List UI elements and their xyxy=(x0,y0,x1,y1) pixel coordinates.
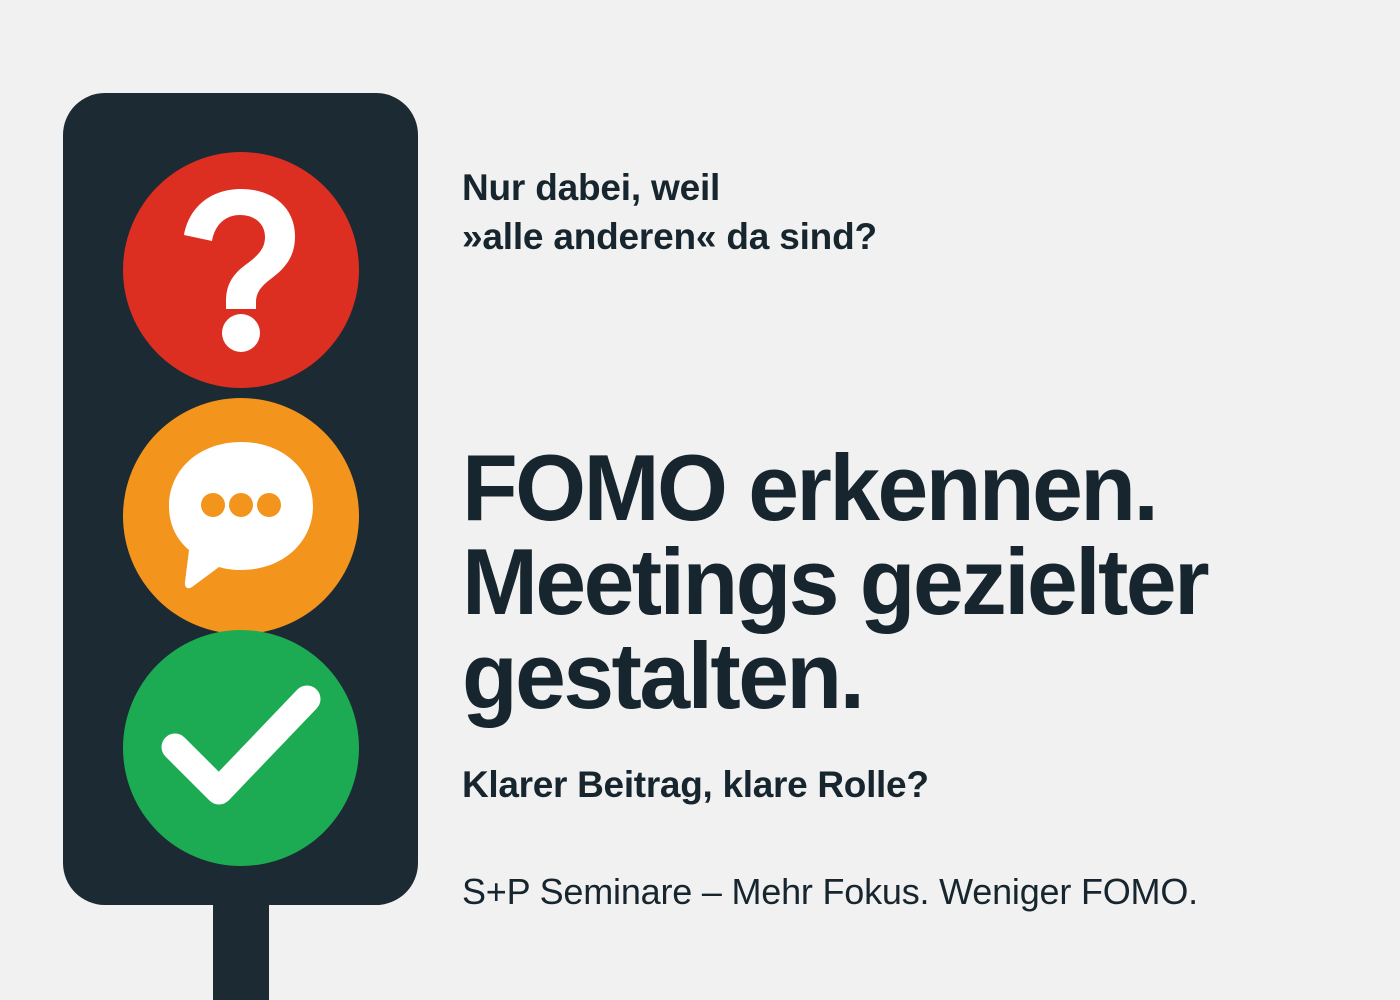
headline-line-3: gestalten. xyxy=(462,629,1335,723)
traffic-light-illustration xyxy=(0,0,460,1000)
traffic-light-lamp-amber xyxy=(123,398,359,634)
traffic-light-lamp-red xyxy=(123,152,359,388)
eyebrow-line-1: Nur dabei, weil xyxy=(462,163,1022,212)
subline-text: Klarer Beitrag, klare Rolle? xyxy=(462,763,929,807)
question-mark-icon xyxy=(171,183,311,358)
speech-bubble-icon xyxy=(161,434,321,599)
traffic-light-housing xyxy=(63,93,418,905)
headline-line-2: Meetings gezielter xyxy=(462,535,1335,629)
page-title: FOMO erkennen. Meetings gezielter gestal… xyxy=(462,441,1362,723)
checkmark-icon xyxy=(161,681,321,816)
headline-line-1: FOMO erkennen. xyxy=(462,441,1335,535)
footer-tagline: S+P Seminare – Mehr Fokus. Weniger FOMO. xyxy=(462,870,1198,913)
eyebrow-line-2: »alle anderen« da sind? xyxy=(462,212,1022,261)
text-column: Nur dabei, weil »alle anderen« da sind? … xyxy=(462,0,1392,1000)
eyebrow-text: Nur dabei, weil »alle anderen« da sind? xyxy=(462,163,1022,261)
poster-canvas: Nur dabei, weil »alle anderen« da sind? … xyxy=(0,0,1400,1000)
traffic-light-lamp-green xyxy=(123,630,359,866)
